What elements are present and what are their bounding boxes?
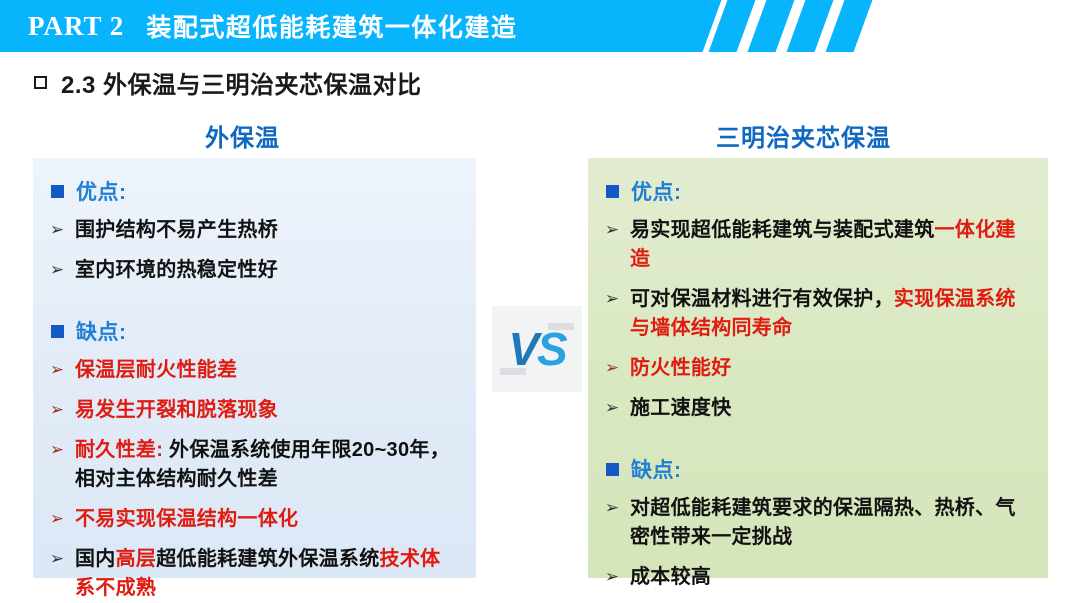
vs-label: VS <box>508 322 565 376</box>
section-title-text: 2.3 外保温与三明治夹芯保温对比 <box>61 65 422 100</box>
bullet-text-segment: 耐久性差: <box>75 439 163 461</box>
bullet-group-header: 缺点: <box>606 454 1032 484</box>
left-column-heading: 外保温 <box>205 118 280 153</box>
square-bullet-icon <box>606 463 619 476</box>
bullet-text-segment: 对超低能耗建筑要求的保温隔热、热桥、气密性带来一定挑战 <box>630 497 1016 548</box>
right-column-heading: 三明治夹芯保温 <box>716 118 891 153</box>
left-comparison-panel: 优点:➢围护结构不易产生热桥➢室内环境的热稳定性好缺点:➢保温层耐火性能差➢易发… <box>33 158 476 578</box>
arrow-bullet-icon: ➢ <box>49 545 65 573</box>
bullet-item-text: 可对保温材料进行有效保护，实现保温系统与墙体结构同寿命 <box>630 285 1032 343</box>
bullet-item: ➢室内环境的热稳定性好 <box>49 256 460 285</box>
bullet-item-text: 易实现超低能耗建筑与装配式建筑一体化建造 <box>630 216 1032 274</box>
banner-stripe-3 <box>787 0 834 52</box>
bullet-item-text: 对超低能耗建筑要求的保温隔热、热桥、气密性带来一定挑战 <box>630 494 1032 552</box>
bullet-text-segment: 成本较高 <box>630 566 711 588</box>
square-bullet-icon <box>51 325 64 338</box>
bullet-item: ➢可对保温材料进行有效保护，实现保温系统与墙体结构同寿命 <box>604 285 1032 343</box>
bullet-group-header: 缺点: <box>51 316 460 346</box>
bullet-text-segment: 不易实现保温结构一体化 <box>75 508 298 530</box>
bullet-group-label: 缺点: <box>631 454 682 484</box>
bullet-text-segment: 易发生开裂和脱落现象 <box>75 399 278 421</box>
bullet-item: ➢耐久性差: 外保温系统使用年限20~30年，相对主体结构耐久性差 <box>49 436 460 494</box>
group-spacer <box>47 296 460 310</box>
bullet-item: ➢不易实现保温结构一体化 <box>49 505 460 534</box>
square-bullet-icon <box>51 185 64 198</box>
bullet-text-segment: 防火性能好 <box>630 357 732 379</box>
square-outline-icon <box>34 76 47 89</box>
arrow-bullet-icon: ➢ <box>604 354 620 382</box>
bullet-item-text: 防火性能好 <box>630 354 732 383</box>
square-bullet-icon <box>606 185 619 198</box>
arrow-bullet-icon: ➢ <box>604 285 620 313</box>
bullet-group-header: 优点: <box>606 176 1032 206</box>
bullet-group-label: 优点: <box>631 176 682 206</box>
bullet-item-text: 国内高层超低能耗建筑外保温系统技术体系不成熟 <box>75 545 460 603</box>
arrow-bullet-icon: ➢ <box>604 394 620 422</box>
arrow-bullet-icon: ➢ <box>49 216 65 244</box>
bullet-item-text: 易发生开裂和脱落现象 <box>75 396 278 425</box>
section-title: 2.3 外保温与三明治夹芯保温对比 <box>34 65 422 100</box>
vs-letter-v: V <box>508 323 537 375</box>
bullet-item-text: 室内环境的热稳定性好 <box>75 256 278 285</box>
banner-stripe-4 <box>826 0 873 52</box>
arrow-bullet-icon: ➢ <box>604 216 620 244</box>
group-spacer <box>602 434 1032 448</box>
bullet-item: ➢围护结构不易产生热桥 <box>49 216 460 245</box>
bullet-item: ➢易发生开裂和脱落现象 <box>49 396 460 425</box>
bullet-text-segment: 施工速度快 <box>630 397 732 419</box>
vs-letter-s: S <box>537 323 566 375</box>
arrow-bullet-icon: ➢ <box>604 494 620 522</box>
bullet-text-segment: 高层 <box>116 548 157 570</box>
bullet-item: ➢防火性能好 <box>604 354 1032 383</box>
right-comparison-panel: 优点:➢易实现超低能耗建筑与装配式建筑一体化建造➢可对保温材料进行有效保护，实现… <box>588 158 1048 578</box>
bullet-item-text: 施工速度快 <box>630 394 732 423</box>
bullet-item: ➢施工速度快 <box>604 394 1032 423</box>
banner-stripe-2 <box>748 0 795 52</box>
bullet-item: ➢易实现超低能耗建筑与装配式建筑一体化建造 <box>604 216 1032 274</box>
bullet-item: ➢对超低能耗建筑要求的保温隔热、热桥、气密性带来一定挑战 <box>604 494 1032 552</box>
bullet-group-label: 优点: <box>76 176 127 206</box>
part-label: PART 2 <box>28 11 124 42</box>
arrow-bullet-icon: ➢ <box>49 436 65 464</box>
bullet-text-segment: 保温层耐火性能差 <box>75 359 237 381</box>
bullet-item-text: 围护结构不易产生热桥 <box>75 216 278 245</box>
vs-badge: VS <box>492 306 582 392</box>
bullet-text-segment: 国内 <box>75 548 116 570</box>
arrow-bullet-icon: ➢ <box>49 256 65 284</box>
bullet-text-segment: 围护结构不易产生热桥 <box>75 219 278 241</box>
arrow-bullet-icon: ➢ <box>604 563 620 591</box>
arrow-bullet-icon: ➢ <box>49 396 65 424</box>
bullet-group-label: 缺点: <box>76 316 127 346</box>
bullet-text-segment: 室内环境的热稳定性好 <box>75 259 278 281</box>
banner-heading: 装配式超低能耗建筑一体化建造 <box>146 8 517 44</box>
header-banner: PART 2 装配式超低能耗建筑一体化建造 <box>0 0 1080 52</box>
bullet-text-segment: 超低能耗建筑外保温系统 <box>156 548 379 570</box>
bullet-item-text: 不易实现保温结构一体化 <box>75 505 298 534</box>
bullet-group-header: 优点: <box>51 176 460 206</box>
banner-title-group: PART 2 装配式超低能耗建筑一体化建造 <box>28 0 517 52</box>
bullet-item: ➢保温层耐火性能差 <box>49 356 460 385</box>
bullet-item: ➢国内高层超低能耗建筑外保温系统技术体系不成熟 <box>49 545 460 603</box>
bullet-item-text: 保温层耐火性能差 <box>75 356 237 385</box>
bullet-item-text: 耐久性差: 外保温系统使用年限20~30年，相对主体结构耐久性差 <box>75 436 460 494</box>
arrow-bullet-icon: ➢ <box>49 356 65 384</box>
bullet-text-segment: 易实现超低能耗建筑与装配式建筑 <box>630 219 935 241</box>
bullet-text-segment: 可对保温材料进行有效保护， <box>630 288 894 310</box>
arrow-bullet-icon: ➢ <box>49 505 65 533</box>
